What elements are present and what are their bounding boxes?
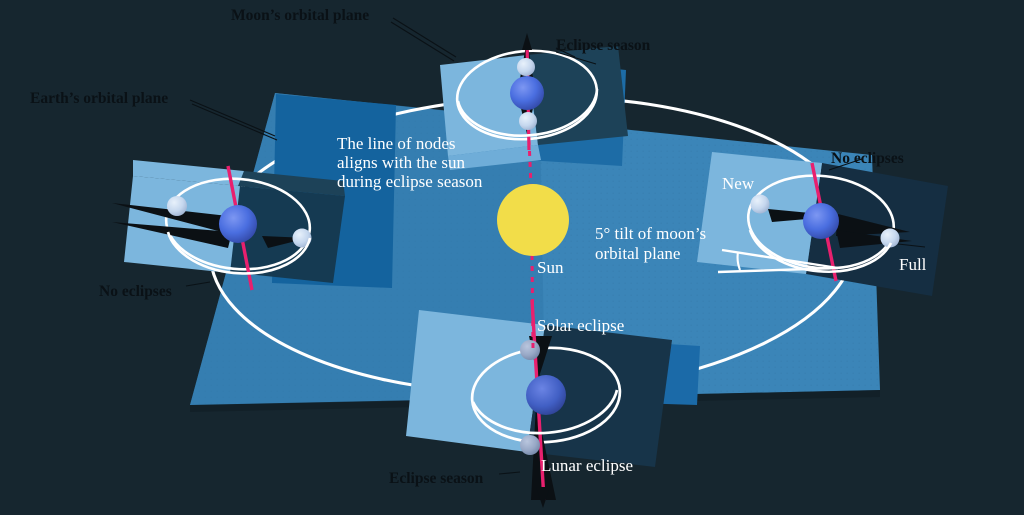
- earth-bottom: [526, 375, 566, 415]
- moon-right-new: [751, 195, 770, 214]
- label-no-eclipses-right: No eclipses: [831, 150, 904, 167]
- moon-bottom-solar-eclipse: [520, 340, 540, 360]
- label-lunar-eclipse: Lunar eclipse: [541, 456, 633, 475]
- note-line-of-nodes-2: aligns with the sun: [337, 153, 465, 172]
- label-full-moon: Full: [899, 255, 927, 274]
- label-new-moon: New: [722, 174, 755, 193]
- eclipse-season-diagram: Moon’s orbital plane Earth’s orbital pla…: [0, 0, 1024, 515]
- earth-top: [510, 76, 544, 110]
- note-line-of-nodes-1: The line of nodes: [337, 134, 456, 153]
- label-eclipse-season-top: Eclipse season: [556, 37, 651, 54]
- note-line-of-nodes-3: during eclipse season: [337, 172, 483, 191]
- label-earths-orbital-plane: Earth’s orbital plane: [30, 90, 168, 107]
- moon-left-upper: [167, 196, 187, 216]
- moon-top-upper: [517, 58, 535, 76]
- note-tilt-1: 5° tilt of moon’s: [595, 224, 706, 243]
- label-eclipse-season-bottom: Eclipse season: [389, 470, 484, 487]
- label-no-eclipses-left: No eclipses: [99, 283, 172, 300]
- sun-body: [497, 184, 569, 256]
- earth-left: [219, 205, 257, 243]
- node-sun-dash-lower: [532, 255, 533, 348]
- label-solar-eclipse: Solar eclipse: [537, 316, 624, 335]
- diagram-canvas: Moon’s orbital plane Earth’s orbital pla…: [0, 0, 1024, 515]
- moon-bottom-lunar-eclipse: [520, 435, 540, 455]
- label-moons-orbital-plane: Moon’s orbital plane: [231, 7, 369, 24]
- moon-top-lower: [519, 112, 537, 130]
- label-sun: Sun: [537, 258, 564, 277]
- note-tilt-2: orbital plane: [595, 244, 680, 263]
- earth-right: [803, 203, 839, 239]
